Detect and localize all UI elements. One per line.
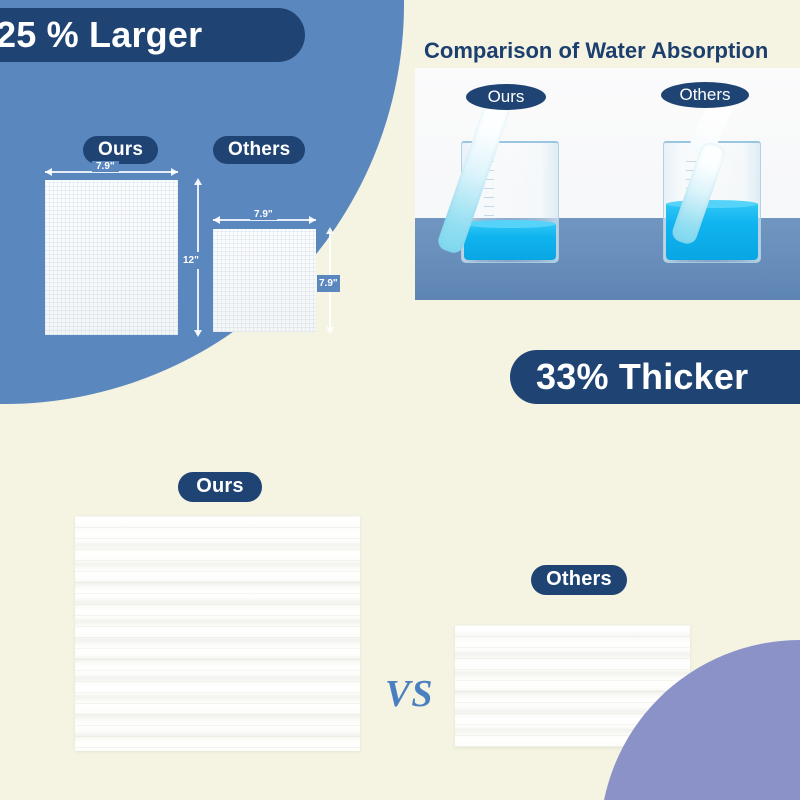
- swatch-ours: [45, 180, 178, 335]
- badge-33-percent-thicker: 33% Thicker: [510, 350, 800, 404]
- dim-arrow-ours-width-right: [171, 168, 178, 176]
- beaker-liquid-ours: [464, 224, 556, 260]
- absorption-label-ours: Ours: [466, 84, 546, 110]
- versus-text: VS: [385, 672, 433, 716]
- infographic-canvas: 25 % Larger Ours 7.9" 12" Others 7.9" 7.…: [0, 0, 800, 800]
- dim-arrow-ours-height-bottom: [194, 330, 202, 337]
- dim-text-ours-width: 7.9": [92, 161, 119, 172]
- dim-arrow-others-width-left: [213, 216, 220, 224]
- towel-stack-ours: [75, 516, 360, 751]
- dim-arrow-ours-height-top: [194, 178, 202, 185]
- thickness-label-others: Others: [531, 565, 627, 595]
- dim-text-others-height: 7.9": [317, 275, 340, 292]
- badge-25-percent-larger: 25 % Larger: [0, 8, 305, 62]
- dim-text-others-width: 7.9": [250, 209, 277, 220]
- dim-arrow-others-width-right: [309, 216, 316, 224]
- dim-arrow-others-height-top: [326, 227, 334, 234]
- absorption-title: Comparison of Water Absorption: [424, 38, 768, 64]
- dim-arrow-ours-width-left: [45, 168, 52, 176]
- absorption-label-others: Others: [661, 82, 749, 108]
- dim-arrow-others-height-bottom: [326, 327, 334, 334]
- swatch-others: [213, 229, 316, 332]
- thickness-label-ours: Ours: [178, 472, 262, 502]
- liquid-surface-ours: [464, 220, 556, 228]
- size-label-ours: Ours: [83, 136, 158, 164]
- size-label-others: Others: [213, 136, 305, 164]
- dim-text-ours-height: 12": [181, 252, 201, 269]
